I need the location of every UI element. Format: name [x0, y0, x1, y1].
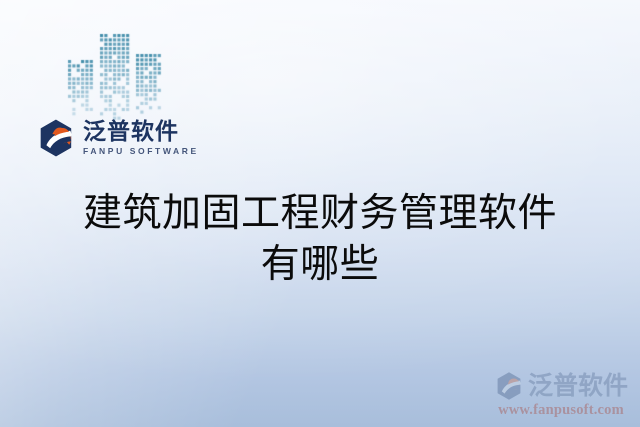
- fanpu-logo-mark: [36, 118, 76, 158]
- title-card: 泛普软件 FANPU SOFTWARE 建筑加固工程财务管理软件 有哪些 泛普软…: [0, 0, 640, 427]
- page-title: 建筑加固工程财务管理软件 有哪些: [0, 188, 640, 291]
- brand-name-en: FANPU SOFTWARE: [83, 147, 199, 156]
- brand-name-cn: 泛普软件: [83, 120, 199, 143]
- mosaic-skyline-canvas: [62, 32, 174, 122]
- watermark-logo-row: 泛普软件: [494, 371, 628, 401]
- fanpu-logo-mark-watermark: [494, 371, 524, 401]
- page-title-line-2: 有哪些: [0, 239, 640, 290]
- watermark: 泛普软件 www.fanpusoft.com: [494, 371, 628, 419]
- watermark-url: www.fanpusoft.com: [494, 402, 628, 419]
- page-title-line-1: 建筑加固工程财务管理软件: [0, 188, 640, 239]
- brand-text: 泛普软件 FANPU SOFTWARE: [83, 120, 199, 156]
- brand-lockup: 泛普软件 FANPU SOFTWARE: [36, 118, 199, 158]
- mosaic-skyline-graphic: [62, 32, 174, 122]
- watermark-name-cn: 泛普软件: [528, 374, 628, 399]
